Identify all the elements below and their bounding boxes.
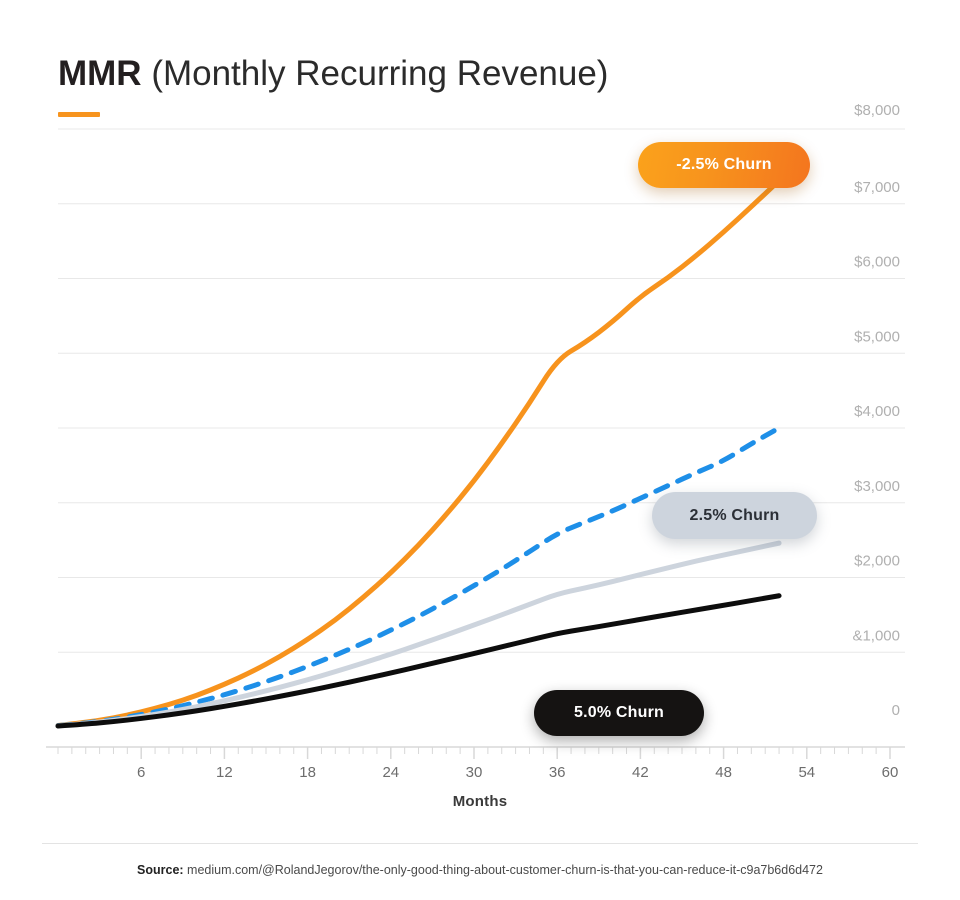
- x-axis-tick-label: 60: [882, 764, 899, 781]
- x-axis-labels-group: 6121824303642485460: [137, 764, 898, 781]
- x-axis-tick-label: 24: [382, 764, 399, 781]
- legend-badge-high-churn[interactable]: 5.0% Churn: [534, 690, 704, 736]
- y-axis-tick-label: $5,000: [854, 328, 900, 345]
- x-axis-tick-label: 30: [466, 764, 483, 781]
- legend-badge-moderate-churn[interactable]: 2.5% Churn: [652, 492, 817, 539]
- y-axis-tick-label: $8,000: [854, 102, 900, 119]
- x-axis-tick-label: 54: [798, 764, 815, 781]
- source-footer: Source: medium.com/@RolandJegorov/the-on…: [0, 863, 960, 877]
- source-label: Source:: [137, 863, 184, 877]
- x-axis-tick-label: 18: [299, 764, 316, 781]
- series-lines-group: [58, 181, 779, 726]
- y-axis-tick-label: $4,000: [854, 403, 900, 420]
- y-axis-tick-label: &1,000: [852, 627, 900, 644]
- y-axis-tick-label: $3,000: [854, 478, 900, 495]
- y-axis-tick-label: $2,000: [854, 553, 900, 570]
- x-axis-group: [46, 747, 905, 759]
- legend-badge-negative-churn[interactable]: -2.5% Churn: [638, 142, 810, 188]
- y-axis-tick-label: $7,000: [854, 179, 900, 196]
- x-axis-tick-label: 6: [137, 764, 145, 781]
- y-axis-labels-group: 0&1,000$2,000$3,000$4,000$5,000$6,000$7,…: [852, 102, 900, 719]
- y-axis-tick-label: 0: [892, 702, 900, 719]
- x-axis-tick-label: 12: [216, 764, 233, 781]
- chart-plot-area: 0&1,000$2,000$3,000$4,000$5,000$6,000$7,…: [0, 0, 960, 830]
- x-axis-title: Months: [0, 793, 960, 810]
- infographic-chart-page: MMR (Monthly Recurring Revenue) 0&1,000$…: [0, 0, 960, 900]
- series-line-2: [58, 428, 779, 726]
- source-url: medium.com/@RolandJegorov/the-only-good-…: [184, 863, 823, 877]
- gridlines-group: [58, 129, 905, 652]
- y-axis-tick-label: $6,000: [854, 254, 900, 271]
- footer-divider: [42, 843, 918, 844]
- mmr-line-chart: 0&1,000$2,000$3,000$4,000$5,000$6,000$7,…: [0, 0, 960, 830]
- x-axis-tick-label: 48: [715, 764, 732, 781]
- x-axis-tick-label: 42: [632, 764, 649, 781]
- x-axis-tick-label: 36: [549, 764, 566, 781]
